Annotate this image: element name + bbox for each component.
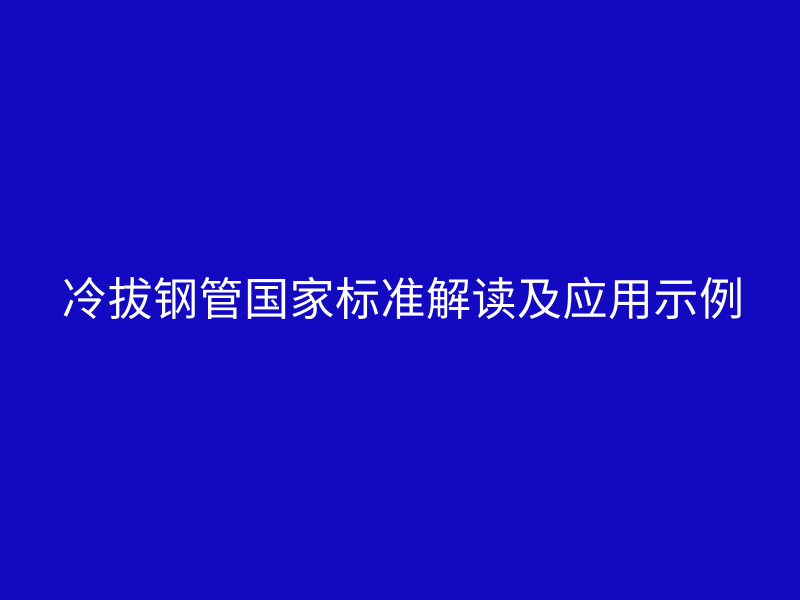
slide-canvas: 冷拔钢管国家标准解读及应用示例 bbox=[0, 0, 800, 600]
slide-title: 冷拔钢管国家标准解读及应用示例 bbox=[62, 275, 745, 325]
title-block: 冷拔钢管国家标准解读及应用示例 bbox=[62, 0, 762, 600]
